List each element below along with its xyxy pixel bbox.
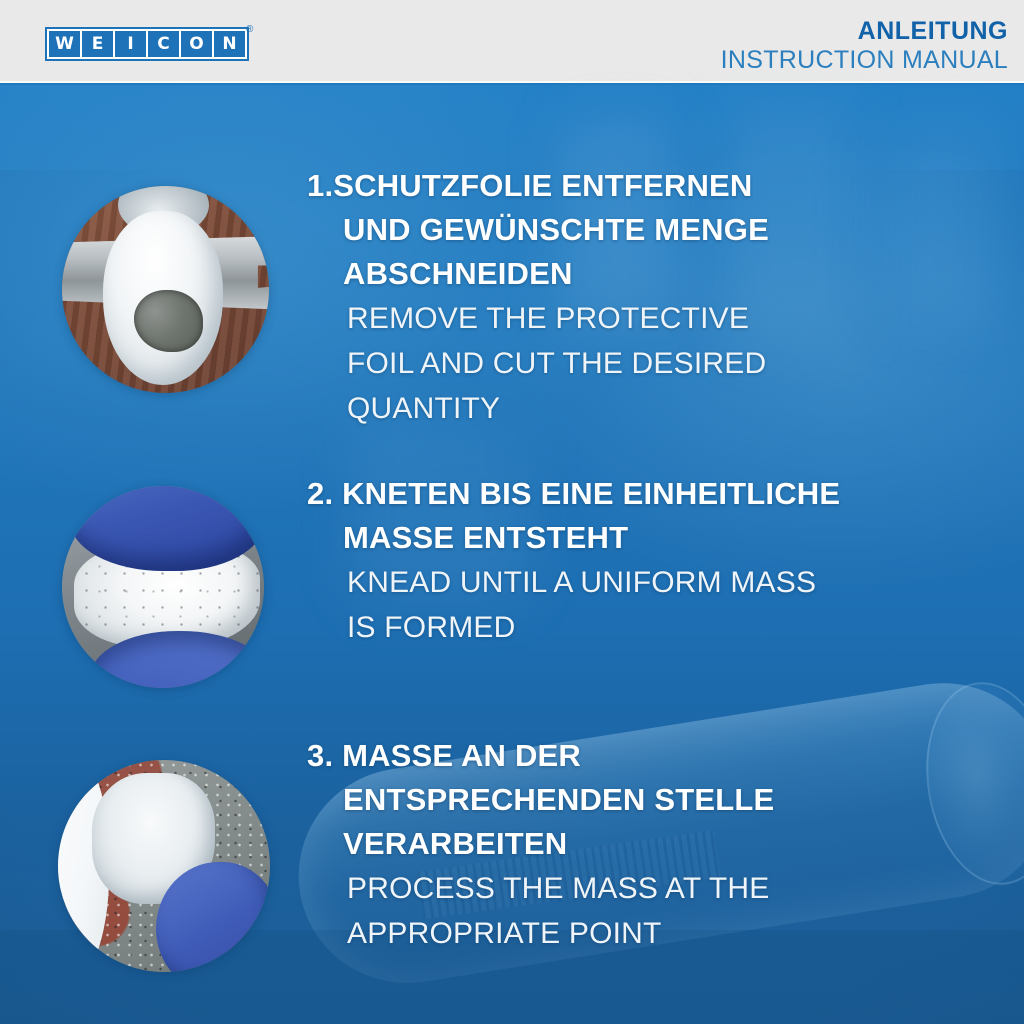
instruction-manual-page: W E I C O N ® ANLEITUNG INSTRUCTION MANU…: [0, 0, 1024, 1024]
page-header: W E I C O N ® ANLEITUNG INSTRUCTION MANU…: [0, 0, 1024, 83]
step-3-photo: [58, 760, 270, 972]
step-3-heading-line: 3. MASSE AN DER: [307, 734, 774, 778]
logo-letter: N: [214, 31, 245, 57]
step-1-heading-line: UND GEWÜNSCHTE MENGE: [307, 208, 769, 252]
step-3-subtitle-line: PROCESS THE MASS AT THE: [307, 866, 774, 911]
step-1-subtitle-line: QUANTITY: [307, 386, 769, 431]
weicon-logo: W E I C O N: [45, 27, 249, 61]
step-1-subtitle-line: FOIL AND CUT THE DESIRED: [307, 341, 769, 386]
page-title-german: ANLEITUNG: [721, 18, 1008, 45]
step-3-text: 3. MASSE AN DER ENTSPRECHENDEN STELLE VE…: [307, 734, 774, 956]
logo-letter: W: [49, 31, 80, 57]
step-2-heading-line: MASSE ENTSTEHT: [307, 516, 840, 560]
step-1-text: 1.SCHUTZFOLIE ENTFERNEN UND GEWÜNSCHTE M…: [307, 164, 769, 431]
step-2-subtitle-line: IS FORMED: [307, 605, 840, 650]
step-2-subtitle-line: KNEAD UNTIL A UNIFORM MASS: [307, 560, 840, 605]
step-2-text: 2. KNETEN BIS EINE EINHEITLICHE MASSE EN…: [307, 472, 840, 650]
step-3-subtitle-line: APPROPRIATE POINT: [307, 911, 774, 956]
photo-content: [62, 186, 269, 393]
step-1-photo: [62, 186, 269, 393]
logo-letter: C: [148, 31, 179, 57]
step-3-heading-line: ENTSPRECHENDEN STELLE: [307, 778, 774, 822]
header-titles: ANLEITUNG INSTRUCTION MANUAL: [721, 18, 1008, 74]
step-2-heading-line: 2. KNETEN BIS EINE EINHEITLICHE: [307, 472, 840, 516]
photo-content: [62, 486, 264, 688]
step-3-heading-line: VERARBEITEN: [307, 822, 774, 866]
step-1-heading-line: ABSCHNEIDEN: [307, 252, 769, 296]
photo-content: [58, 760, 270, 972]
logo-letter: O: [181, 31, 212, 57]
logo-letter: E: [82, 31, 113, 57]
photo-putty-core: [134, 290, 202, 352]
page-title-english: INSTRUCTION MANUAL: [721, 46, 1008, 74]
step-1-subtitle-line: REMOVE THE PROTECTIVE: [307, 296, 769, 341]
step-1-heading-line: 1.SCHUTZFOLIE ENTFERNEN: [307, 164, 769, 208]
registered-trademark-icon: ®: [246, 24, 253, 35]
step-2-photo: [62, 486, 264, 688]
logo-letter: I: [115, 31, 146, 57]
